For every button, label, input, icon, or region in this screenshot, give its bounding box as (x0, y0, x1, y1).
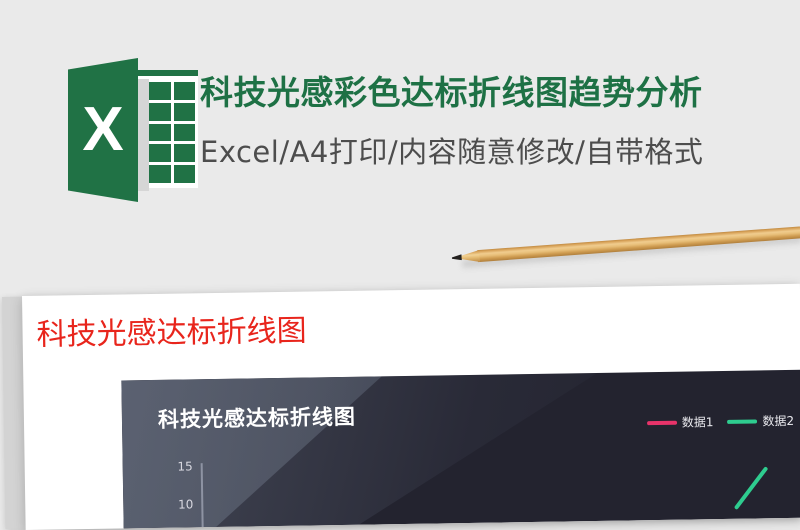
document-heading: 科技光感达标折线图 (36, 306, 307, 354)
pencil-tip (452, 254, 462, 261)
document-preview-card[interactable]: 科技光感达标折线图 科技光感达标折线图 数据1 数据2 15 10 (22, 284, 800, 530)
excel-grid-cell (174, 165, 196, 183)
legend-item-series-2[interactable]: 数据2 (727, 412, 794, 430)
excel-logo-letter: X (68, 58, 138, 202)
legend-swatch-icon (647, 420, 677, 424)
chart-legend: 数据1 数据2 (647, 412, 795, 431)
series-2-line-segment (734, 466, 769, 510)
page-subtitle: Excel/A4打印/内容随意修改/自带格式 (200, 129, 703, 171)
excel-logo-icon: X (62, 58, 198, 202)
legend-swatch-icon (727, 419, 757, 423)
legend-label: 数据2 (762, 412, 794, 429)
chart-background-wedge-soft (121, 372, 683, 529)
excel-sheet-grid (149, 82, 195, 183)
excel-grid-cell (174, 124, 196, 142)
chart-panel[interactable]: 科技光感达标折线图 数据1 数据2 15 10 (121, 369, 800, 528)
excel-sheet-inner (132, 76, 198, 188)
page-title: 科技光感彩色达标折线图趋势分析 (200, 66, 703, 114)
header-banner: X 科技光感彩色达标折线图趋势分析 Excel/A4打印/内容随意修改/自带格式 (0, 0, 800, 250)
excel-grid-cell (149, 82, 171, 100)
excel-grid-cell (174, 82, 196, 100)
legend-label: 数据1 (682, 413, 714, 430)
excel-grid-cell (174, 144, 196, 162)
excel-grid-cell (149, 124, 171, 142)
excel-grid-cell (149, 144, 171, 162)
pencil-cone (459, 250, 480, 263)
legend-item-series-1[interactable]: 数据1 (647, 413, 714, 431)
excel-grid-cell (149, 165, 171, 183)
chart-title: 科技光感达标折线图 (158, 401, 356, 434)
excel-grid-cell (174, 103, 196, 121)
excel-grid-cell (149, 103, 171, 121)
